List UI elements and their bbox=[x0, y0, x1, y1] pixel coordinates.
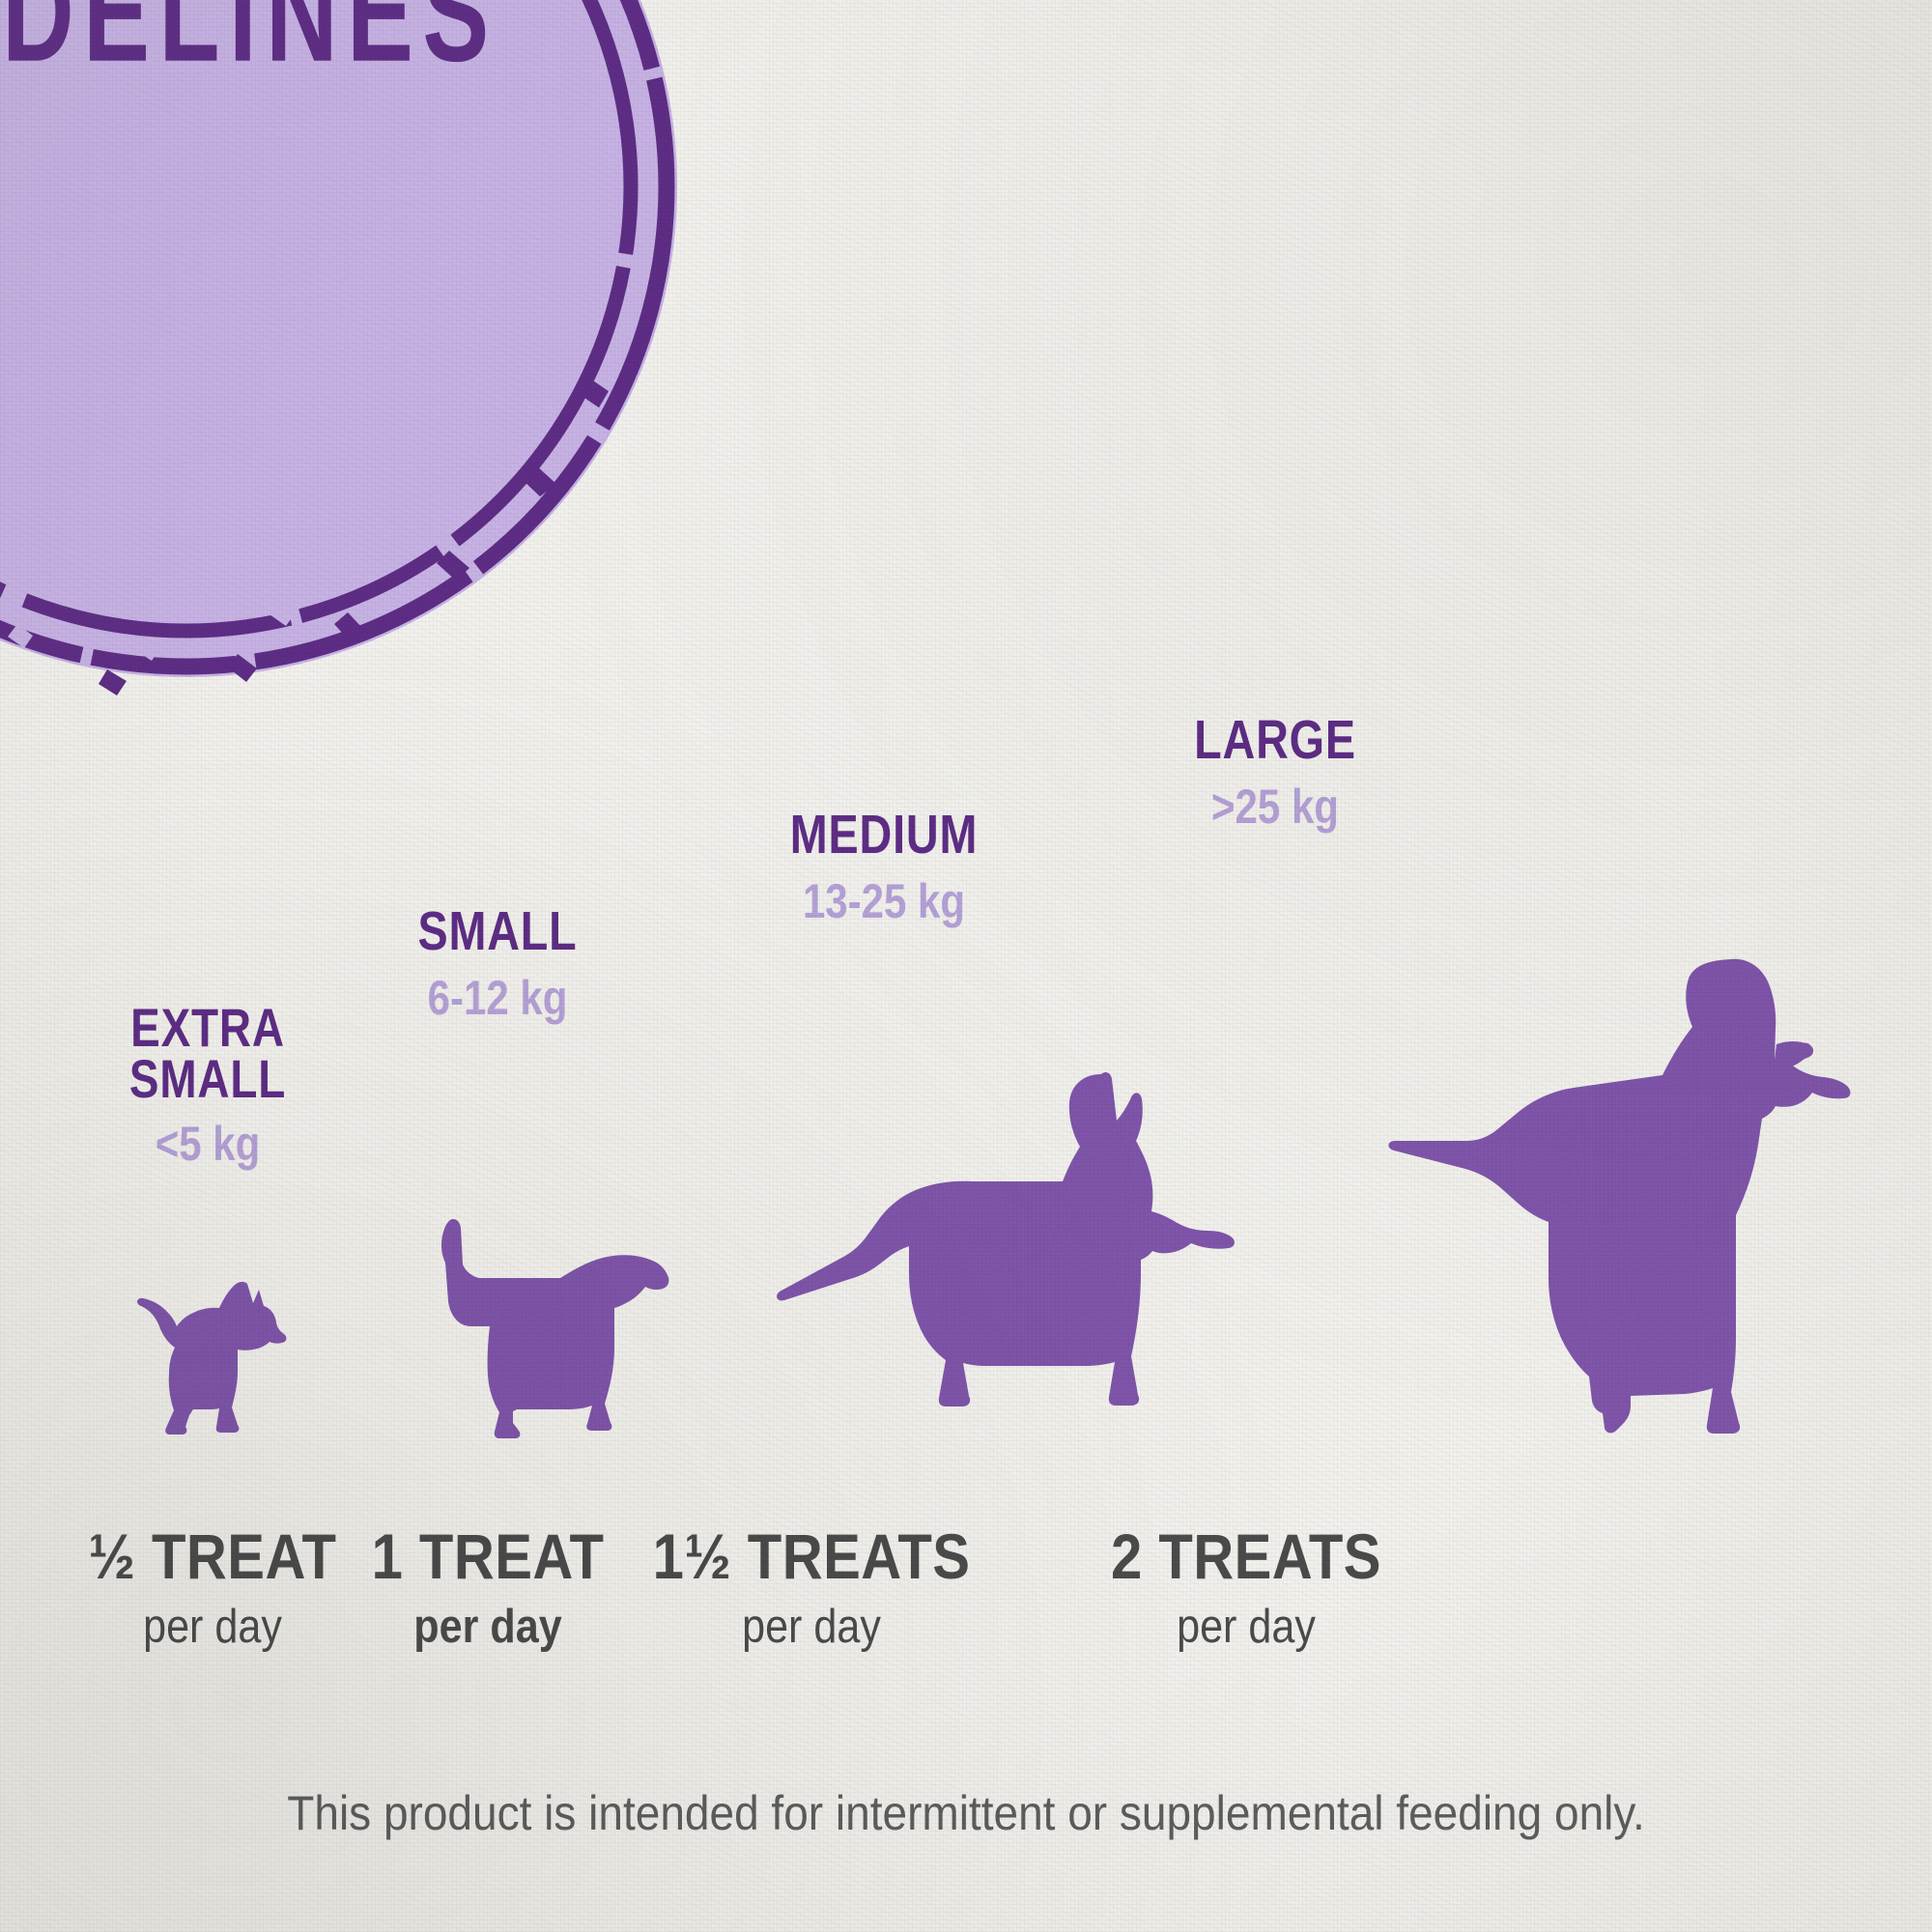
beagle-silhouette-icon bbox=[415, 1212, 671, 1444]
size-label-extra-small: EXTRA SMALL <5 kg bbox=[53, 1003, 362, 1168]
size-label-extra-small-name-line2: SMALL bbox=[81, 1054, 334, 1105]
page-title-line-2: GUIDELINES bbox=[0, 0, 567, 82]
size-label-extra-small-weight: <5 kg bbox=[78, 1120, 338, 1168]
page-title: FEEDING GUIDELINES bbox=[0, 0, 567, 82]
size-label-medium: MEDIUM 13-25 kg bbox=[720, 810, 1048, 925]
feeding-amount-large: 2 TREATS per day bbox=[1053, 1524, 1439, 1651]
size-label-large: LARGE >25 kg bbox=[1111, 715, 1439, 831]
feeding-amount-large-period: per day bbox=[1076, 1604, 1416, 1651]
size-label-small: SMALL 6-12 kg bbox=[343, 906, 652, 1022]
chihuahua-silhouette-icon bbox=[126, 1261, 290, 1444]
feeding-amount-small-period: per day bbox=[318, 1604, 658, 1651]
size-label-medium-name: MEDIUM bbox=[750, 810, 1019, 862]
badge-circle-graphic bbox=[0, 0, 713, 713]
feeding-guidelines-badge: FEEDING GUIDELINES bbox=[0, 0, 713, 713]
size-label-small-name: SMALL bbox=[371, 906, 624, 958]
size-label-extra-small-name: EXTRA SMALL bbox=[81, 1003, 334, 1104]
shepherd-silhouette-icon bbox=[763, 1063, 1236, 1449]
feeding-amount-medium-value: 1½ TREATS bbox=[641, 1524, 981, 1588]
size-label-large-weight: >25 kg bbox=[1137, 782, 1413, 831]
feeding-amount-medium-period: per day bbox=[641, 1604, 981, 1651]
size-label-large-name: LARGE bbox=[1141, 715, 1410, 767]
feeding-guidelines-infographic: FEEDING GUIDELINES EXTRA SMALL <5 kg SMA… bbox=[0, 0, 1932, 1932]
feeding-amount-small-value: 1 TREAT bbox=[318, 1524, 658, 1588]
size-label-small-weight: 6-12 kg bbox=[368, 974, 628, 1022]
feeding-amount-medium: 1½ TREATS per day bbox=[618, 1524, 1005, 1651]
feeding-amount-large-value: 2 TREATS bbox=[1076, 1524, 1416, 1588]
disclaimer-text: This product is intended for intermitten… bbox=[77, 1785, 1855, 1841]
size-label-medium-weight: 13-25 kg bbox=[746, 877, 1022, 925]
size-label-extra-small-name-line1: EXTRA bbox=[81, 1003, 334, 1054]
great-dane-silhouette-icon bbox=[1294, 952, 1855, 1449]
